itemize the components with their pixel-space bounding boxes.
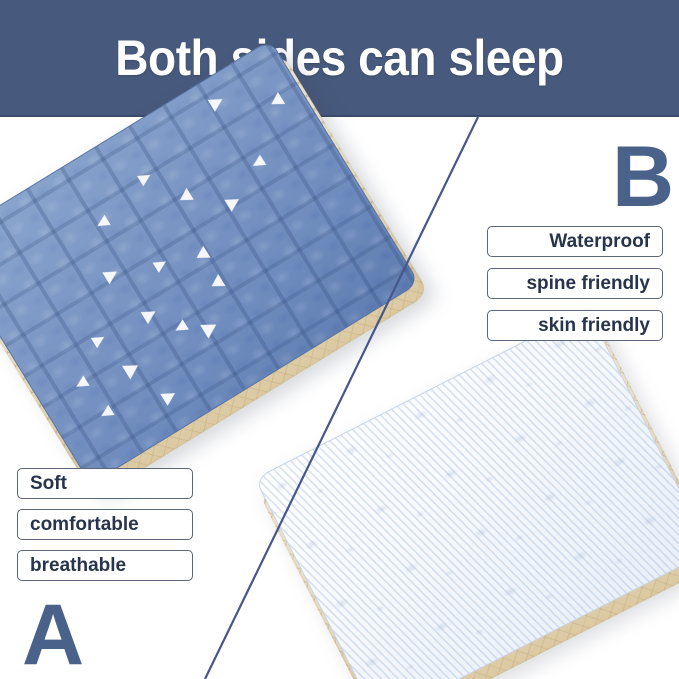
mattress-b-top-surface <box>254 309 679 679</box>
product-comparison-image: Both sides can sleep <box>0 0 679 679</box>
feature-pill-comfortable: comfortable <box>17 509 193 540</box>
feature-pill-breathable: breathable <box>17 550 193 581</box>
page-title: Both sides can sleep <box>27 0 652 115</box>
embossed-motif-texture <box>256 310 679 679</box>
header-banner: Both sides can sleep <box>0 0 679 117</box>
feature-pill-soft: Soft <box>17 468 193 499</box>
feature-pill-waterproof: Waterproof <box>487 226 663 257</box>
side-b-letter: B <box>612 134 674 220</box>
side-a-letter: A <box>22 592 84 678</box>
feature-pill-skin-friendly: skin friendly <box>487 310 663 341</box>
feature-pill-spine-friendly: spine friendly <box>487 268 663 299</box>
